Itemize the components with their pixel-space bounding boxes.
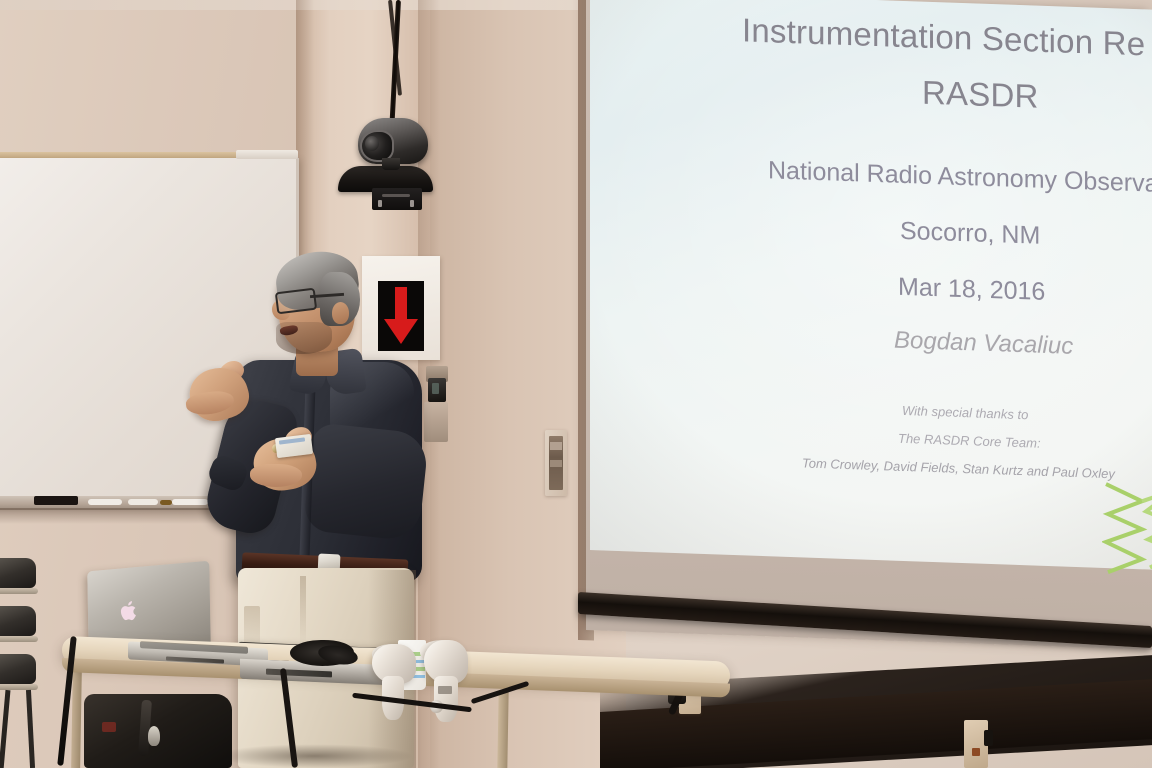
whiteboard-marker	[160, 500, 172, 505]
whiteboard-marker	[128, 499, 158, 505]
camera-plate-slot	[382, 194, 410, 197]
presenter-ear	[332, 302, 349, 324]
light-switch-toggle[interactable]	[550, 442, 562, 450]
presentation-photo: USE ME Instrumentation Section Re RASDR …	[0, 0, 1152, 768]
bag-accent	[102, 722, 116, 732]
presenter-pants-fly	[300, 576, 306, 646]
wall-outlet-indicator	[972, 748, 980, 756]
chair-leg	[26, 690, 35, 768]
camera-indicator-light	[378, 200, 382, 207]
whiteboard-rail-cap	[236, 150, 298, 159]
presenter-right-arm	[303, 422, 430, 542]
chair-seat	[0, 558, 36, 588]
stacked-chairs	[0, 558, 40, 768]
whiteboard-marker	[88, 499, 122, 505]
chair-rail	[0, 588, 38, 594]
speaker-brand-logo	[438, 686, 452, 694]
desktop-speaker	[372, 644, 416, 732]
camera-neck	[382, 158, 400, 170]
projection-vignette	[590, 0, 1152, 570]
presenter-right-fingers	[250, 464, 302, 487]
apple-logo-icon	[120, 600, 139, 622]
speaker-stem	[434, 676, 458, 722]
chair-leg	[0, 690, 10, 768]
chair-seat	[0, 606, 36, 636]
chair-rail	[0, 636, 38, 642]
whiteboard-eraser	[34, 496, 78, 505]
camera-lens-glass	[365, 136, 379, 151]
table-leg	[497, 690, 508, 768]
light-switch-toggle[interactable]	[550, 460, 562, 467]
chair-seat	[0, 654, 36, 684]
presenter-floor-shadow	[214, 744, 414, 768]
table-leg	[71, 668, 82, 768]
bag-clip	[148, 726, 160, 746]
camera-indicator-light	[410, 200, 414, 207]
wall-jack	[984, 730, 993, 746]
